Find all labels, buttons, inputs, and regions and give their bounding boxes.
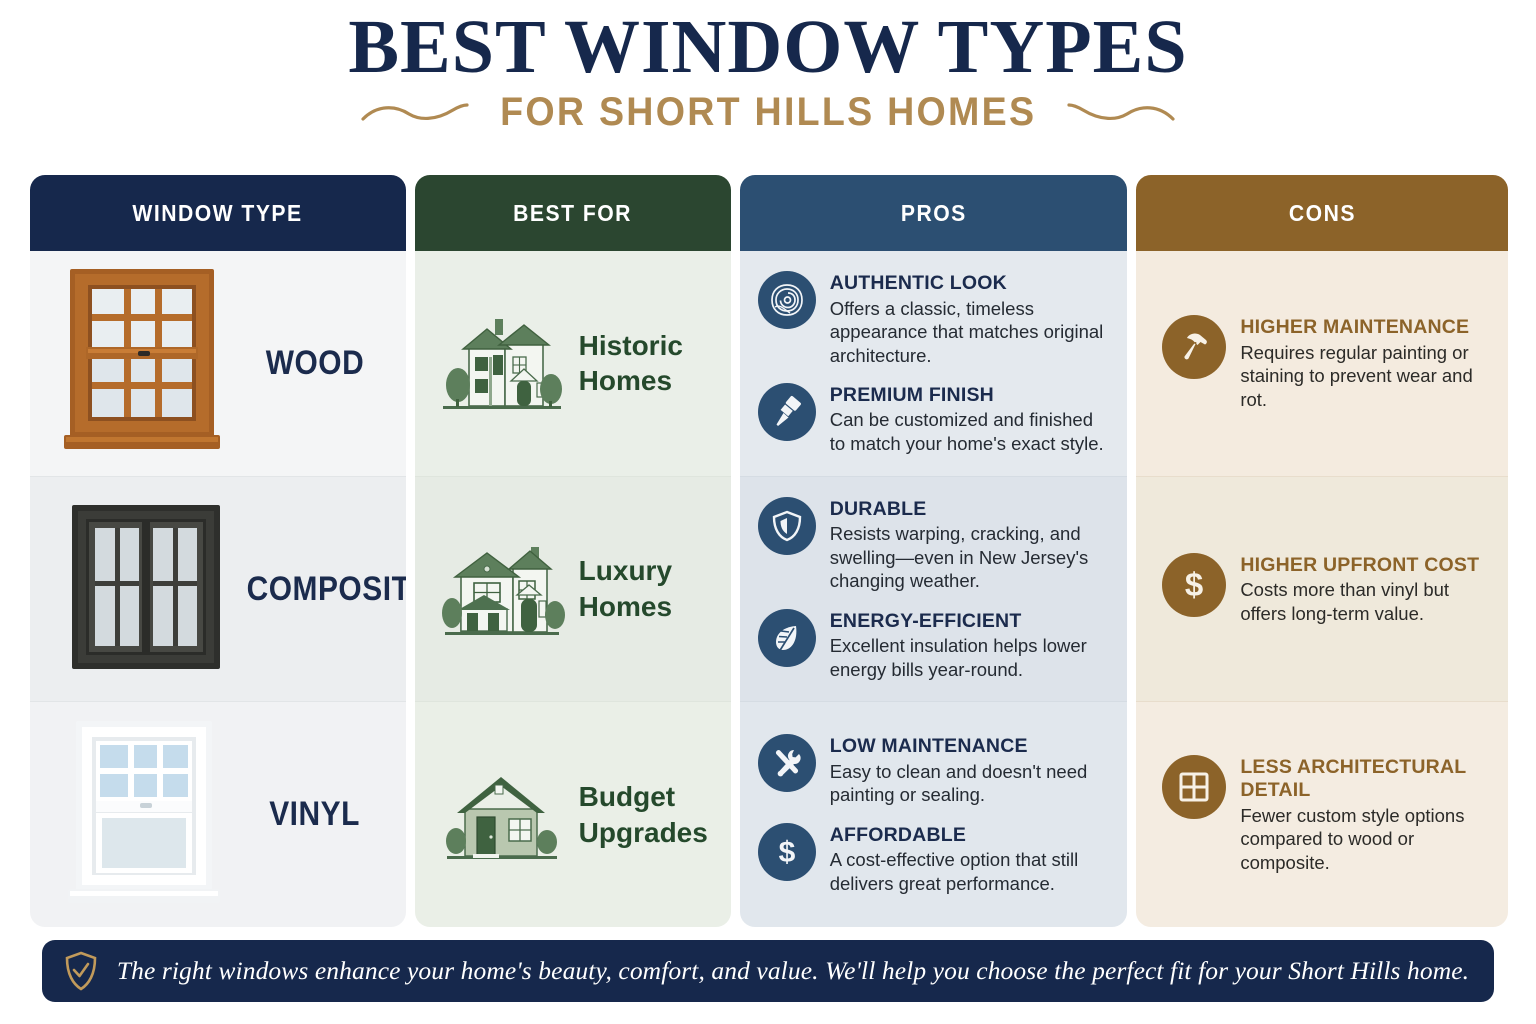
column-header-label: Cons xyxy=(1289,199,1356,228)
svg-text:$: $ xyxy=(778,836,795,869)
column-body-pros: Authentic Look Offers a classic, timeles… xyxy=(740,251,1128,927)
best-for-label: Budget Upgrades xyxy=(579,779,717,851)
column-pros: Pros Authentic Look xyxy=(740,175,1128,927)
feature-text: Higher Upfront Cost Costs more than viny… xyxy=(1240,553,1492,625)
table-row: Durable Resists warping, cracking, and s… xyxy=(740,477,1128,703)
feature-desc: A cost-effective option that still deliv… xyxy=(830,848,1112,895)
table-row: Vinyl xyxy=(30,702,406,927)
feature-desc: Fewer custom style options compared to w… xyxy=(1240,804,1492,874)
shield-check-icon xyxy=(64,951,98,991)
wood-grain-icon xyxy=(758,271,816,329)
banner-text: The right windows enhance your home's be… xyxy=(114,956,1472,986)
window-type-label: Composite xyxy=(234,570,406,609)
table-row: $ Higher Upfront Cost Costs more than vi… xyxy=(1136,477,1508,703)
paintbrush-icon xyxy=(758,383,816,441)
feature-text: Premium Finish Can be customized and fin… xyxy=(830,383,1112,455)
table-row: Historic Homes xyxy=(415,251,731,477)
column-window-type: Window Type xyxy=(30,175,406,927)
column-body-best-for: Historic Homes xyxy=(415,251,731,927)
wood-double-hung-window-icon xyxy=(62,265,230,461)
table-row: Authentic Look Offers a classic, timeles… xyxy=(740,251,1128,477)
table-row: Budget Upgrades xyxy=(415,702,731,927)
feature-title: Less Architectural Detail xyxy=(1240,756,1492,803)
feature-title: Energy-Efficient xyxy=(830,610,1112,633)
window-type-label: Wood xyxy=(234,344,396,383)
dollar-sign-icon: $ xyxy=(758,823,816,881)
column-header-label: Pros xyxy=(901,199,967,228)
column-body-cons: Higher Maintenance Requires regular pain… xyxy=(1136,251,1508,927)
list-item: Higher Maintenance Requires regular pain… xyxy=(1162,315,1492,411)
feature-title: Authentic Look xyxy=(830,272,1112,295)
feature-title: Durable xyxy=(830,498,1112,521)
feature-text: Durable Resists warping, cracking, and s… xyxy=(830,497,1112,593)
feature-desc: Can be customized and finished to match … xyxy=(830,408,1112,455)
feature-text: Less Architectural Detail Fewer custom s… xyxy=(1240,755,1492,874)
list-item: $ Higher Upfront Cost Costs more than vi… xyxy=(1162,553,1492,625)
subtitle-row: For Short Hills Homes xyxy=(0,90,1536,135)
svg-text:$: $ xyxy=(1185,566,1203,603)
list-item: Less Architectural Detail Fewer custom s… xyxy=(1162,755,1492,874)
feature-text: Affordable A cost-effective option that … xyxy=(830,823,1112,895)
feature-desc: Requires regular painting or staining to… xyxy=(1240,341,1492,411)
column-header-best-for: Best For xyxy=(415,175,731,251)
table-row: Composite xyxy=(30,477,406,703)
feature-desc: Excellent insulation helps lower energy … xyxy=(830,634,1112,681)
window-grid-icon xyxy=(1162,755,1226,819)
feature-text: Authentic Look Offers a classic, timeles… xyxy=(830,271,1112,367)
left-flourish-icon xyxy=(361,101,469,125)
dollar-sign-icon: $ xyxy=(1162,553,1226,617)
best-for-label: Luxury Homes xyxy=(579,553,717,625)
list-item: Durable Resists warping, cracking, and s… xyxy=(758,497,1112,593)
window-type-label: Vinyl xyxy=(234,795,396,834)
feature-text: Higher Maintenance Requires regular pain… xyxy=(1240,315,1492,411)
shield-icon xyxy=(758,497,816,555)
list-item: Energy-Efficient Excellent insulation he… xyxy=(758,609,1112,681)
column-header-window-type: Window Type xyxy=(30,175,406,251)
column-body-window-type: Wood xyxy=(30,251,406,927)
feature-text: Energy-Efficient Excellent insulation he… xyxy=(830,609,1112,681)
table-row: Higher Maintenance Requires regular pain… xyxy=(1136,251,1508,477)
page-subtitle: For Short Hills Homes xyxy=(500,90,1036,135)
page-title: Best Window Types xyxy=(0,6,1536,88)
feature-title: Higher Upfront Cost xyxy=(1240,554,1492,577)
luxury-house-icon xyxy=(431,529,573,649)
feature-title: Premium Finish xyxy=(830,384,1112,407)
column-header-label: Best For xyxy=(513,199,632,228)
feature-desc: Costs more than vinyl but offers long-te… xyxy=(1240,578,1492,625)
feature-title: Affordable xyxy=(830,824,1112,847)
list-item: Premium Finish Can be customized and fin… xyxy=(758,383,1112,455)
leaf-icon xyxy=(758,609,816,667)
title-area: Best Window Types For Short Hills Homes xyxy=(0,0,1536,135)
vinyl-double-hung-window-icon xyxy=(62,717,230,913)
feature-desc: Easy to clean and doesn't need painting … xyxy=(830,760,1112,807)
feature-title: Higher Maintenance xyxy=(1240,316,1492,339)
column-cons: Cons Higher Maintenance xyxy=(1136,175,1508,927)
list-item: $ Affordable A cost-effective option tha… xyxy=(758,823,1112,895)
column-header-pros: Pros xyxy=(740,175,1128,251)
historic-house-icon xyxy=(431,303,573,423)
column-header-cons: Cons xyxy=(1136,175,1508,251)
footer-banner: The right windows enhance your home's be… xyxy=(42,940,1494,1002)
table-row: Low Maintenance Easy to clean and doesn'… xyxy=(740,702,1128,927)
tools-icon xyxy=(758,734,816,792)
feature-desc: Resists warping, cracking, and swelling—… xyxy=(830,522,1112,592)
best-for-label: Historic Homes xyxy=(579,328,717,400)
column-header-label: Window Type xyxy=(133,199,303,228)
feature-text: Low Maintenance Easy to clean and doesn'… xyxy=(830,734,1112,806)
feature-title: Low Maintenance xyxy=(830,735,1112,758)
list-item: Authentic Look Offers a classic, timeles… xyxy=(758,271,1112,367)
hammer-icon xyxy=(1162,315,1226,379)
feature-desc: Offers a classic, timeless appearance th… xyxy=(830,297,1112,367)
list-item: Low Maintenance Easy to clean and doesn'… xyxy=(758,734,1112,806)
table-row: Less Architectural Detail Fewer custom s… xyxy=(1136,702,1508,927)
table-row: Wood xyxy=(30,251,406,477)
column-best-for: Best For xyxy=(415,175,731,927)
comparison-table: Window Type xyxy=(30,175,1508,927)
budget-cottage-icon xyxy=(431,755,573,875)
table-row: Luxury Homes xyxy=(415,477,731,703)
right-flourish-icon xyxy=(1067,101,1175,125)
composite-casement-window-icon xyxy=(62,491,230,687)
